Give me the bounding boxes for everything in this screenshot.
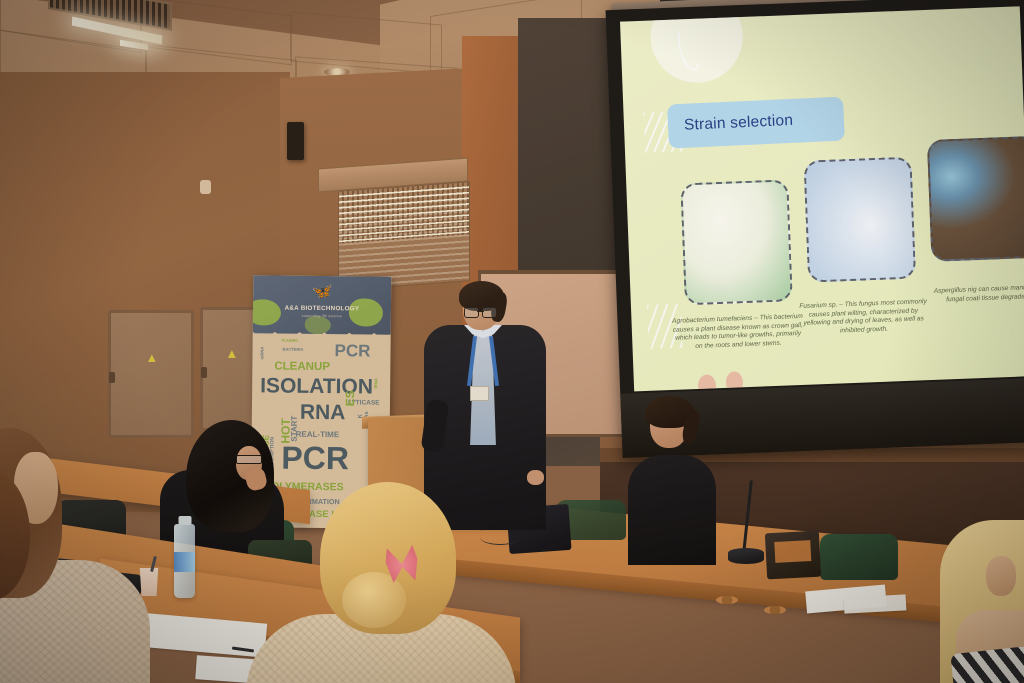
butterfly-logo: 🦋 [311,283,332,300]
slide-title-box: Strain selection [667,97,845,149]
word-cloud-term: RNA [300,402,346,423]
warning-icon [228,350,236,358]
panel-latch[interactable] [109,372,115,383]
microphone-base[interactable] [728,548,764,564]
word-cloud-term: REAL-TIME [296,431,340,439]
lanyard [470,336,496,388]
caption-aspergillus: Aspergillus nig can cause manifested by … [928,283,1024,305]
monitor-screen [774,540,812,563]
hair-bun [342,572,406,628]
caption-fusarium: Fusarium sp. – This fungus most commonly… [797,298,930,337]
word-cloud-term: PCR [281,442,349,475]
cable-grommet [764,606,786,614]
word-cloud-term: BACTERIA [283,348,304,352]
warning-icon [148,354,156,362]
glasses-icon [236,455,262,464]
microphone-cable [480,530,520,545]
fusarium-culture-photo [803,157,916,283]
name-badge [470,386,489,401]
leaf-shape [305,316,331,334]
wall-speaker [287,122,304,160]
word-cloud-term: PLASMID [282,340,298,344]
glasses-icon [464,307,497,316]
projection-screen: Strain selection Agrobacterium tumefacie… [606,0,1024,458]
panel-latch[interactable] [201,367,207,378]
window-blinds[interactable] [338,181,470,291]
cable-grommet [716,596,738,604]
bottle-label [174,552,195,572]
control-monitor[interactable] [765,531,821,580]
electrical-panel[interactable] [108,310,194,438]
slide-decor-dot [698,374,717,391]
water-bottle[interactable] [174,524,195,598]
agrobacterium-colony-photo [680,179,793,305]
papers[interactable] [844,594,907,613]
slide-title-text: Strain selection [684,112,794,135]
attendee-hand [986,556,1016,596]
caption-agrobacterium: Agrobacterium tumefaciens – This bacteri… [671,313,804,352]
word-cloud-term: ES [344,390,356,406]
motion-sensor [200,180,211,194]
paper-cup[interactable] [138,568,160,596]
screen-surface: Strain selection Agrobacterium tumefacie… [620,6,1024,391]
blind-perforations [339,182,469,244]
word-cloud-term: CLEANUP [274,362,330,374]
word-cloud-term: PCR [334,342,370,359]
word-cloud-term: START [291,416,299,442]
word-cloud-term: mRNA [260,347,264,360]
presenter-hand [527,470,544,485]
chair[interactable] [820,534,898,580]
banner-brand-text: A&A BIOTECHNOLOGY [253,304,391,312]
word-cloud-term: tRNA [374,378,378,389]
aspergillus-niger-photo [927,135,1024,262]
presentation-slide: Strain selection Agrobacterium tumefacie… [620,6,1024,391]
bottle-cap [178,516,191,525]
seated-man-torso [628,455,716,565]
lecture-room-photo: Strain selection Agrobacterium tumefacie… [0,0,1024,683]
